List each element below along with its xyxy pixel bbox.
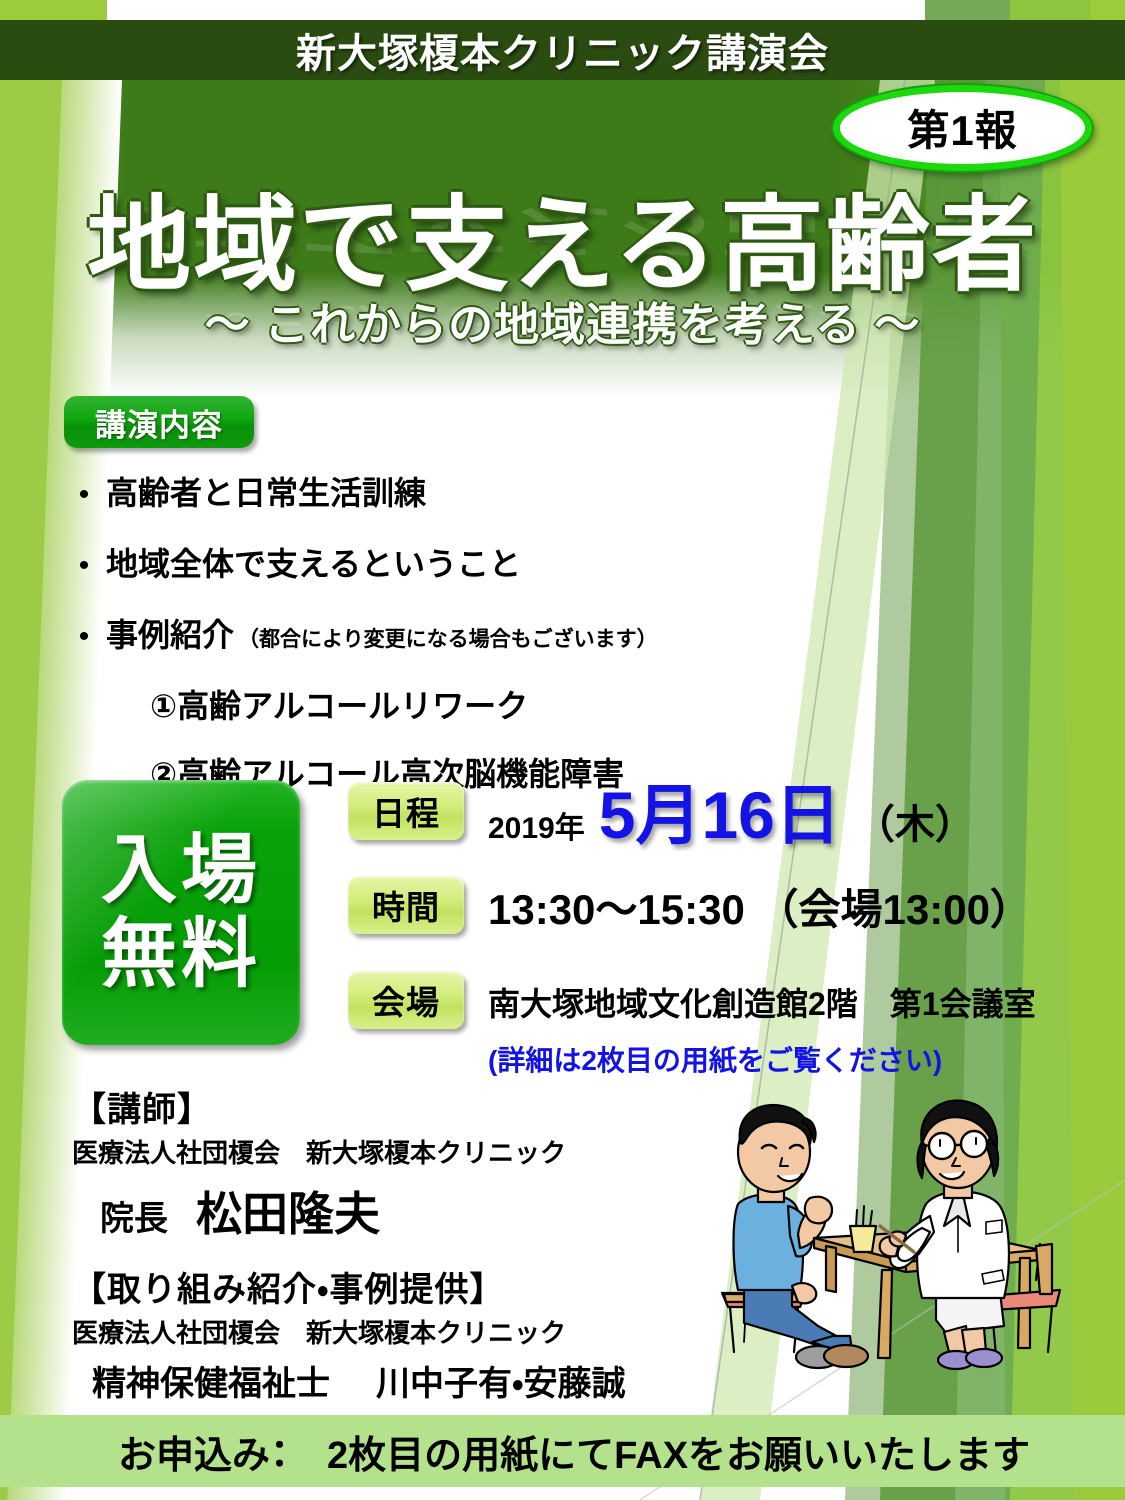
header-bar: 新大塚榎本クリニック講演会 — [0, 20, 1125, 80]
top-strip-right-2 — [1010, 0, 1090, 22]
date-year: 2019年 — [488, 803, 585, 847]
lecturer-heading: 【講師】 — [72, 1082, 732, 1131]
bullet-dot-icon: • — [62, 622, 106, 652]
speakers-section: 【講師】 医療法人社団榎会 新大塚榎本クリニック 院長松田隆夫 【取り組み紹介・… — [72, 1082, 732, 1405]
bullet-dot-icon: • — [62, 551, 106, 581]
chip-time-label: 時間 — [372, 881, 440, 929]
chip-place-label: 会場 — [372, 976, 440, 1024]
doctor-figure — [880, 1101, 1009, 1369]
page-subtitle: ～ これからの地域連携を考える ～ — [0, 288, 1125, 353]
bullet-text: 地域全体で支えるということ — [106, 546, 521, 582]
detail-row-place: 会場 南大塚地域文化創造館2階 第1会議室 (詳細は2枚目の用紙をご覧ください) — [348, 971, 1068, 1079]
bullet-text: 高齢者と日常生活訓練 — [106, 475, 426, 511]
date-dayofweek: （木） — [855, 792, 975, 850]
lecturer-name-row: 院長松田隆夫 — [100, 1178, 732, 1244]
event-details: 日程 2019年 5月16日 （木） 時間 13:30～15:30 （会場13:… — [348, 782, 1068, 1101]
footer-bar: お申込み： 2枚目の用紙にてFAXをお願いいたします — [0, 1415, 1125, 1487]
detail-value-time: 13:30～15:30 （会場13:00） — [488, 876, 1032, 937]
lecturer-name: 松田隆夫 — [196, 1188, 380, 1240]
place-value: 南大塚地域文化創造館2階 第1会議室 — [488, 986, 1036, 1022]
list-item: • 高齢者と日常生活訓練 — [62, 468, 902, 514]
detail-value-date: 2019年 5月16日 （木） — [488, 782, 975, 850]
lecturer-title: 院長 — [100, 1200, 168, 1238]
chip-place: 会場 — [348, 971, 464, 1029]
header-title: 新大塚榎本クリニック講演会 — [296, 21, 829, 79]
badge-label: 第1報 — [907, 97, 1017, 158]
cases-heading: 【取り組み紹介・事例提供】 — [72, 1262, 732, 1311]
free-admission-line1: 入場 — [101, 829, 261, 913]
top-strip-right-3 — [1090, 0, 1125, 22]
list-item: • 事例紹介（都合により変更になる場合もございます） — [62, 610, 902, 656]
date-main: 5月16日 — [599, 782, 841, 848]
list-item-sub: ①高齢アルコールリワーク — [150, 681, 902, 727]
chip-date: 日程 — [348, 782, 464, 840]
place-note: (詳細は2枚目の用紙をご覧ください) — [488, 1039, 1036, 1079]
detail-row-time: 時間 13:30～15:30 （会場13:00） — [348, 876, 1068, 937]
cases-role-row: 精神保健福祉士川中子有・安藤誠 — [92, 1356, 732, 1405]
time-value: 13:30～15:30 （会場13:00） — [488, 876, 1032, 937]
chip-time: 時間 — [348, 876, 464, 934]
section-tab-program: 講演内容 — [64, 396, 254, 448]
bullet-dot-icon: • — [62, 480, 106, 510]
detail-row-date: 日程 2019年 5月16日 （木） — [348, 782, 1068, 850]
cases-role: 精神保健福祉士 — [92, 1365, 330, 1403]
program-bullet-list: • 高齢者と日常生活訓練 • 地域全体で支えるということ • 事例紹介（都合によ… — [62, 468, 902, 817]
section-tab-label: 講演内容 — [95, 400, 223, 445]
cases-persons: 川中子有・安藤誠 — [376, 1365, 626, 1403]
list-item: • 地域全体で支えるということ — [62, 539, 902, 585]
cases-org: 医療法人社団榎会 新大塚榎本クリニック — [72, 1313, 732, 1350]
chip-date-label: 日程 — [372, 787, 440, 835]
status-badge: 第1報 — [833, 85, 1092, 171]
top-strip-left — [0, 0, 107, 22]
free-admission-box: 入場 無料 — [62, 780, 300, 1045]
poster-root: 新大塚榎本クリニック講演会 第1報 地域で支える高齢者 地域で支える高齢者 ～ … — [0, 0, 1125, 1500]
lecturer-org: 医療法人社団榎会 新大塚榎本クリニック — [72, 1133, 732, 1170]
bullet-text: 事例紹介 — [106, 617, 234, 653]
consultation-illustration — [700, 1080, 1100, 1400]
footer-text: お申込み： 2枚目の用紙にてFAXをお願いいたします — [118, 1424, 1030, 1479]
bullet-note: （都合により変更になる場合もございます） — [238, 628, 658, 651]
free-admission-line2: 無料 — [101, 913, 261, 997]
top-strip-right — [925, 0, 1125, 22]
detail-value-place: 南大塚地域文化創造館2階 第1会議室 (詳細は2枚目の用紙をご覧ください) — [488, 971, 1036, 1079]
